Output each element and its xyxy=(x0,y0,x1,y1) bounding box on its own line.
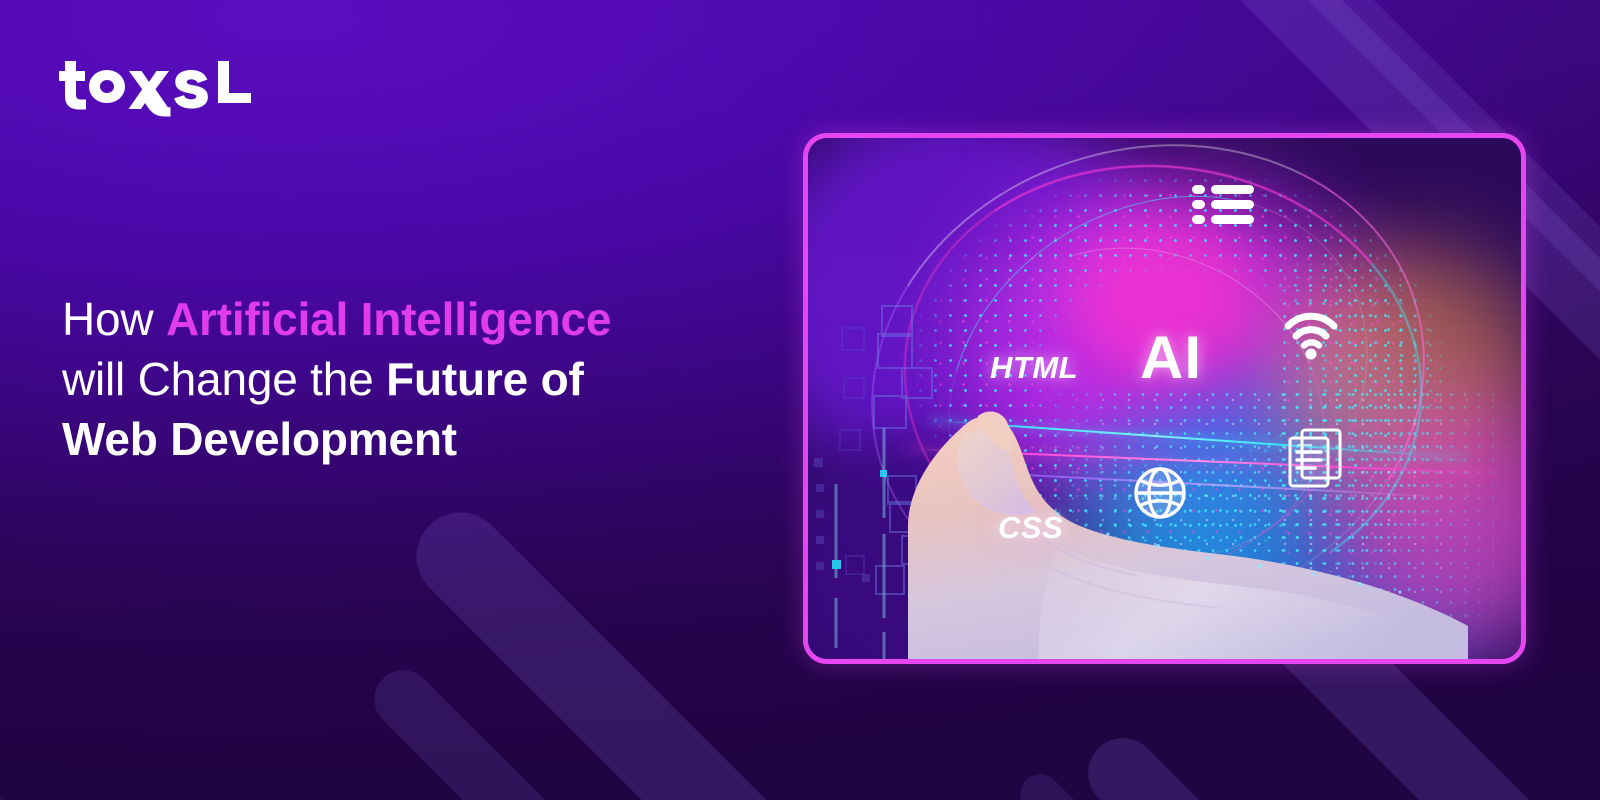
stripe xyxy=(1074,724,1357,800)
globe-icon xyxy=(1133,466,1187,520)
headline-line-1: How Artificial Intelligence xyxy=(62,296,762,344)
headline-accent-ai: Artificial Intelligence xyxy=(166,293,611,345)
headline-line-3: Web Development xyxy=(62,416,762,464)
ai-hero-inner: HTML CSS AI xyxy=(808,138,1521,659)
headline: How Artificial Intelligence will Change … xyxy=(62,296,762,463)
headline-text-how: How xyxy=(62,293,166,345)
ai-hero-image: HTML CSS AI xyxy=(803,133,1526,664)
stripe xyxy=(1012,766,1224,800)
wifi-icon xyxy=(1283,310,1339,360)
hand-illustration xyxy=(908,406,1468,659)
headline-text-will-change: will Change the xyxy=(62,353,386,405)
promo-banner: How Artificial Intelligence will Change … xyxy=(0,0,1600,800)
stripe xyxy=(362,658,735,800)
documents-icon xyxy=(1288,428,1342,490)
headline-line-2: will Change the Future of xyxy=(62,356,762,404)
headline-bold-future-of: Future of xyxy=(386,353,584,405)
label-ai: AI xyxy=(1140,323,1202,392)
stripe xyxy=(0,712,129,800)
label-css: CSS xyxy=(998,510,1063,546)
list-icon xyxy=(1192,183,1254,227)
headline-bold-web-development: Web Development xyxy=(62,413,457,465)
toxsl-logo[interactable] xyxy=(59,55,259,117)
label-html: HTML xyxy=(990,350,1078,386)
